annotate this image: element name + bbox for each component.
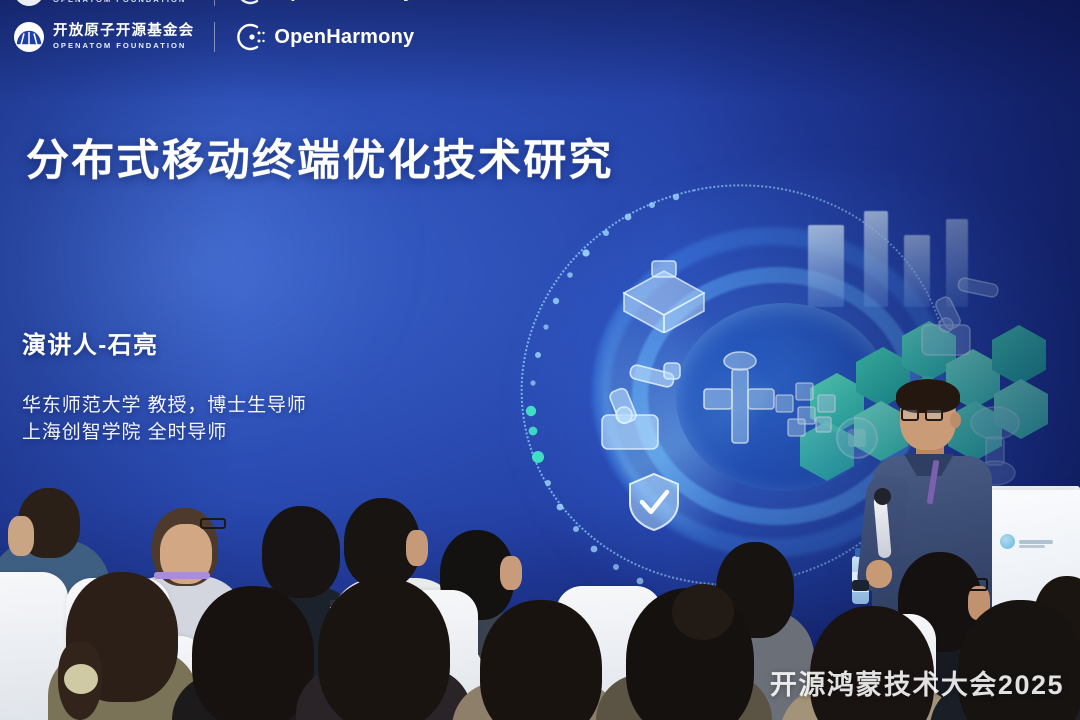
affiliation-line-2: 上海创智学院 全时导师: [22, 419, 307, 446]
openatom-cn-label: 开放原子开源基金会: [53, 24, 194, 39]
logo-divider: [214, 0, 215, 6]
openharmony-arc-icon: [235, 22, 265, 52]
openatom-logo: 开放原子开源基金会 OPENATOM FOUNDATION: [0, 22, 208, 52]
openharmony-logo-clipped: OpenHarmony: [221, 0, 428, 6]
logo-bar-clipped: 开放原子开源基金会 OPENATOM FOUNDATION OpenHarmon…: [0, 0, 428, 6]
attendee-glasses: [958, 578, 988, 591]
speaker-affiliations: 华东师范大学 教授，博士生导师 上海创智学院 全时导师: [22, 392, 307, 446]
affiliation-line-1: 华东师范大学 教授，博士生导师: [22, 392, 307, 419]
logo-bar: 开放原子开源基金会 OPENATOM FOUNDATION OpenHarmon…: [0, 22, 428, 52]
presenter-glasses: [901, 408, 945, 421]
openatom-fan-icon: [14, 22, 44, 52]
event-watermark: 开源鸿蒙技术大会2025: [770, 663, 1064, 702]
logo-divider: [214, 22, 215, 52]
openatom-fan-icon: [14, 0, 44, 6]
conference-photo: 开放原子开源基金会 OPENATOM FOUNDATION OpenHarmon…: [0, 0, 1080, 720]
openharmony-label-clipped: OpenHarmony: [274, 0, 414, 3]
speaker-name: 演讲人-石亮: [22, 325, 158, 360]
openharmony-label: OpenHarmony: [274, 26, 414, 49]
openatom-en-label: OPENATOM FOUNDATION: [53, 0, 194, 4]
openatom-logo-clipped: 开放原子开源基金会 OPENATOM FOUNDATION: [0, 0, 208, 6]
openatom-fan-glyph: [16, 30, 42, 46]
openatom-en-label: OPENATOM FOUNDATION: [53, 42, 194, 50]
openharmony-arc-icon: [235, 0, 265, 6]
openharmony-logo: OpenHarmony: [221, 22, 428, 52]
presenter-ear: [950, 412, 961, 428]
slide-title: 分布式移动终端优化技术研究: [26, 126, 614, 188]
